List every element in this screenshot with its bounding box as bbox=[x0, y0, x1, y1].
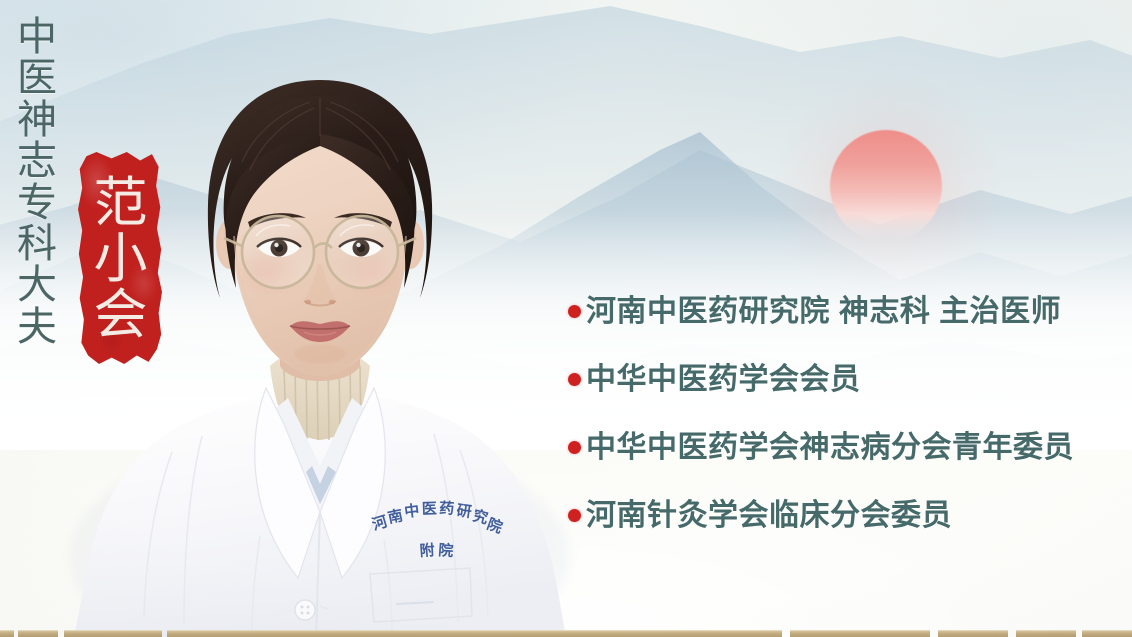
slat-segment bbox=[0, 630, 14, 637]
vertical-title: 中 医 神 志 专 科 大 夫 bbox=[8, 16, 66, 347]
list-item: 中华中医药学会神志病分会青年委员 bbox=[568, 424, 1124, 471]
slat-segment bbox=[18, 630, 58, 637]
name-seal-stamp: 范 小 会 bbox=[78, 152, 162, 364]
vertical-title-char: 科 bbox=[17, 223, 57, 264]
bullet-dot-icon bbox=[568, 305, 581, 318]
slat-gap bbox=[930, 631, 938, 637]
seal-characters: 范 小 会 bbox=[78, 152, 162, 364]
vertical-title-char: 夫 bbox=[17, 306, 57, 347]
bullet-dot-icon bbox=[568, 373, 581, 386]
bullet-dot-icon bbox=[568, 441, 581, 454]
credential-text: 中华中医药学会神志病分会青年委员 bbox=[586, 433, 1074, 463]
vertical-title-char: 大 bbox=[17, 264, 57, 305]
list-item: 中华中医药学会会员 bbox=[568, 356, 1124, 403]
bullet-dot-icon bbox=[568, 509, 581, 522]
svg-text:中: 中 bbox=[403, 501, 420, 521]
vertical-title-char: 神 bbox=[17, 99, 57, 140]
slat-segment bbox=[938, 630, 1008, 637]
bottom-slat-border bbox=[0, 630, 1132, 637]
slat-segment bbox=[1082, 630, 1132, 637]
seal-char: 小 bbox=[94, 231, 147, 287]
credential-text: 河南中医药研究院 神志科 主治医师 bbox=[586, 297, 1061, 327]
vertical-title-char: 志 bbox=[17, 140, 57, 181]
vertical-title-char: 中 bbox=[17, 16, 57, 57]
svg-text:研: 研 bbox=[455, 502, 472, 521]
slat-segment bbox=[167, 630, 782, 637]
svg-text:医: 医 bbox=[422, 500, 438, 518]
vertical-title-char: 专 bbox=[17, 182, 57, 223]
slat-segment bbox=[1016, 630, 1076, 637]
slat-gap bbox=[1008, 631, 1016, 637]
svg-text:附: 附 bbox=[419, 541, 435, 560]
slat-segment bbox=[64, 630, 162, 637]
credentials-list: 河南中医药研究院 神志科 主治医师 中华中医药学会会员 中华中医药学会神志病分会… bbox=[568, 288, 1124, 539]
credential-text: 中华中医药学会会员 bbox=[586, 365, 861, 395]
svg-text:院: 院 bbox=[438, 541, 454, 560]
vertical-title-char: 医 bbox=[17, 57, 57, 98]
credential-text: 河南针灸学会临床分会委员 bbox=[586, 501, 952, 531]
seal-char: 范 bbox=[94, 175, 147, 231]
seal-char: 会 bbox=[94, 287, 147, 343]
slat-segment bbox=[790, 630, 930, 637]
list-item: 河南中医药研究院 神志科 主治医师 bbox=[568, 288, 1124, 335]
slat-gap bbox=[782, 631, 790, 637]
doctor-profile-card: 河 南 中 医 药 研 究 院 附 院 bbox=[0, 0, 1132, 637]
svg-text:药: 药 bbox=[439, 499, 455, 518]
list-item: 河南针灸学会临床分会委员 bbox=[568, 492, 1124, 539]
